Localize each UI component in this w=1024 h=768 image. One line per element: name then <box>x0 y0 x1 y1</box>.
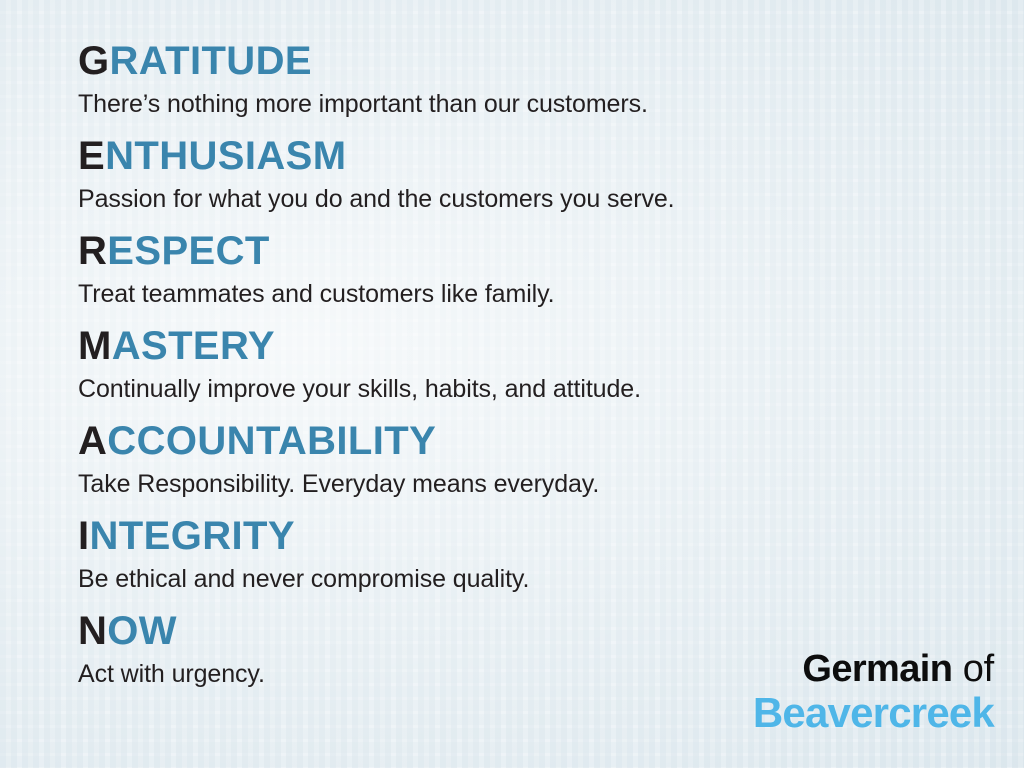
value-heading-enthusiasm: ENTHUSIASM <box>78 131 1024 181</box>
value-heading-remainder: CCOUNTABILITY <box>107 419 436 463</box>
value-heading-remainder: OW <box>107 609 177 653</box>
dealership-logo: Germain of Beavercreek <box>753 648 994 736</box>
value-block-accountability: ACCOUNTABILITY Take Responsibility. Ever… <box>78 416 1024 502</box>
value-description-integrity: Be ethical and never compromise quality. <box>78 561 1024 597</box>
value-initial-letter: I <box>78 514 90 558</box>
value-initial-letter: M <box>78 324 112 368</box>
value-block-respect: RESPECT Treat teammates and customers li… <box>78 226 1024 312</box>
value-description-accountability: Take Responsibility. Everyday means ever… <box>78 466 1024 502</box>
value-heading-accountability: ACCOUNTABILITY <box>78 416 1024 466</box>
values-list: GRATITUDE There’s nothing more important… <box>0 0 1024 692</box>
value-initial-letter: A <box>78 419 107 463</box>
value-heading-respect: RESPECT <box>78 226 1024 276</box>
logo-primary-line: Germain of <box>753 648 994 690</box>
value-initial-letter: N <box>78 609 107 653</box>
value-heading-mastery: MASTERY <box>78 321 1024 371</box>
value-initial-letter: G <box>78 39 110 83</box>
value-initial-letter: E <box>78 134 105 178</box>
logo-city-name: Beavercreek <box>753 690 994 736</box>
value-block-mastery: MASTERY Continually improve your skills,… <box>78 321 1024 407</box>
value-heading-remainder: RATITUDE <box>110 39 312 83</box>
value-heading-remainder: ASTERY <box>112 324 275 368</box>
value-block-enthusiasm: ENTHUSIASM Passion for what you do and t… <box>78 131 1024 217</box>
core-values-poster: GRATITUDE There’s nothing more important… <box>0 0 1024 768</box>
value-description-enthusiasm: Passion for what you do and the customer… <box>78 181 1024 217</box>
value-heading-gratitude: GRATITUDE <box>78 36 1024 86</box>
value-description-mastery: Continually improve your skills, habits,… <box>78 371 1024 407</box>
value-heading-remainder: ESPECT <box>107 229 269 273</box>
value-block-gratitude: GRATITUDE There’s nothing more important… <box>78 36 1024 122</box>
value-initial-letter: R <box>78 229 107 273</box>
logo-brand-name: Germain <box>802 648 952 690</box>
value-block-integrity: INTEGRITY Be ethical and never compromis… <box>78 511 1024 597</box>
value-description-respect: Treat teammates and customers like famil… <box>78 276 1024 312</box>
value-heading-integrity: INTEGRITY <box>78 511 1024 561</box>
logo-connector-word: of <box>952 648 994 690</box>
value-heading-remainder: NTHUSIASM <box>105 134 346 178</box>
value-heading-remainder: NTEGRITY <box>90 514 295 558</box>
value-description-gratitude: There’s nothing more important than our … <box>78 86 1024 122</box>
